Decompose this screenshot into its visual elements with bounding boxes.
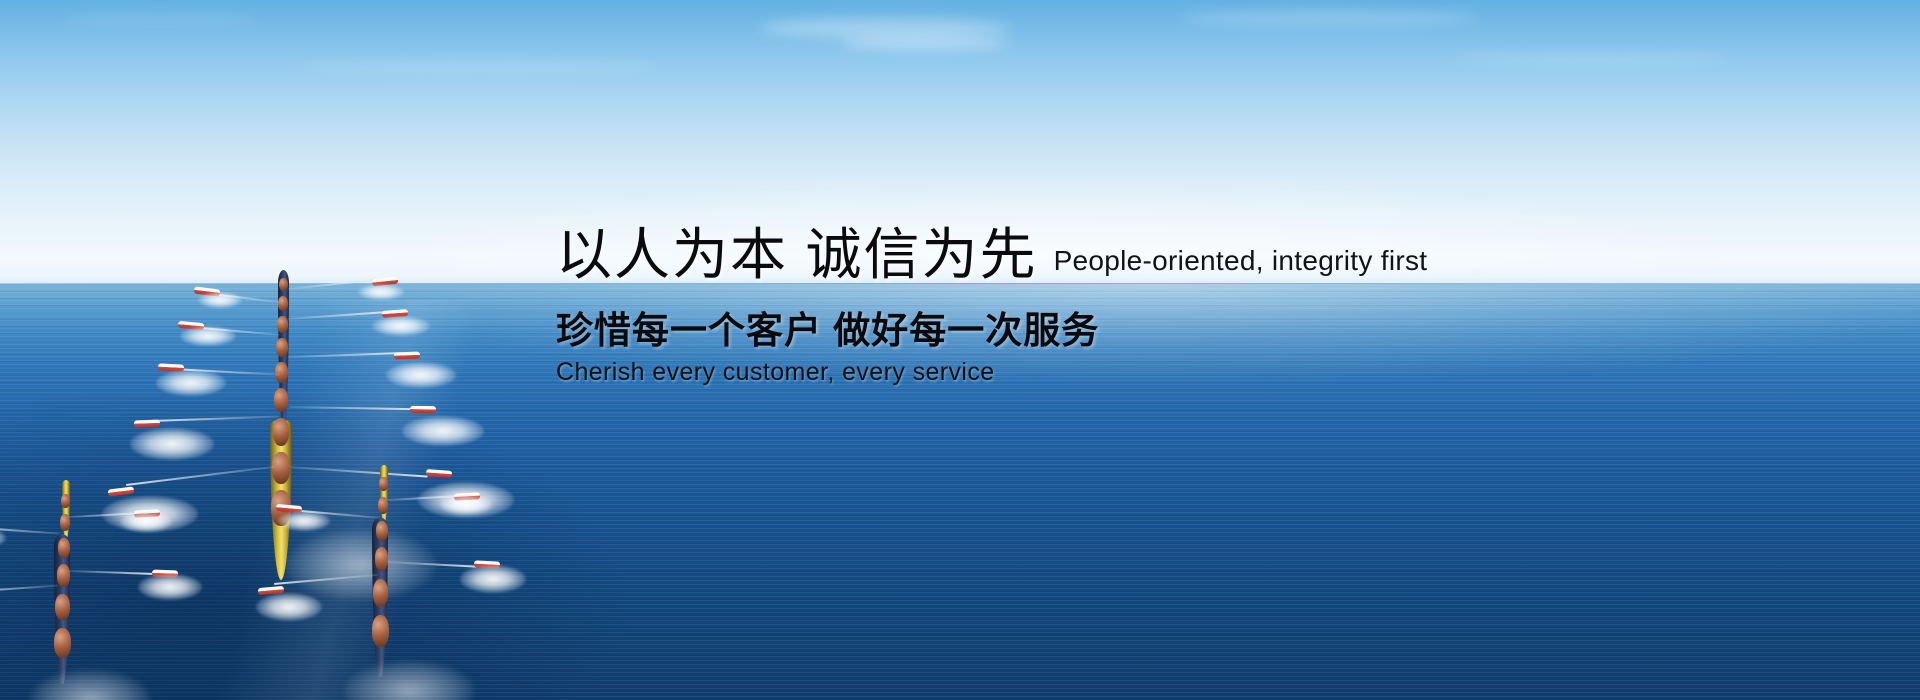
water-splash: [180, 326, 236, 346]
oar-blade: [394, 352, 420, 360]
oar: [288, 352, 398, 358]
rower: [57, 564, 70, 587]
water-splash: [358, 284, 404, 300]
oar: [0, 585, 58, 594]
rower: [373, 579, 388, 607]
water-splash: [256, 593, 322, 621]
rower: [55, 594, 70, 620]
oar-blade: [134, 420, 160, 428]
hero-banner: 以人为本 诚信为先 People-oriented, integrity fir…: [0, 0, 1920, 700]
oar: [0, 526, 60, 535]
oar: [289, 406, 413, 410]
rower: [54, 628, 71, 658]
rower: [278, 296, 288, 311]
boat-hull: [380, 465, 388, 523]
rower: [379, 477, 388, 491]
cloud-wisp: [840, 36, 1010, 50]
rower: [276, 338, 288, 357]
water-splash: [402, 416, 484, 446]
water-splash: [198, 292, 242, 308]
oar: [126, 466, 275, 486]
water-splash: [0, 528, 6, 548]
rower: [58, 538, 70, 558]
water-splash: [440, 495, 492, 515]
rower: [375, 547, 388, 571]
rower: [273, 418, 289, 446]
cloud-wisp: [1450, 52, 1730, 64]
subheadline-english: Cherish every customer, every service: [556, 358, 1876, 387]
cloud-wisp: [300, 60, 660, 74]
cloud-wisp: [1180, 10, 1480, 26]
headline-chinese: 以人为本 诚信为先: [556, 225, 1038, 284]
headline-english: People-oriented, integrity first: [1054, 245, 1428, 284]
rowing-boat-left: [10, 480, 120, 700]
subheadline-chinese: 珍惜每一个客户 做好每一次服务: [556, 300, 1876, 354]
rower: [277, 316, 288, 333]
oar: [69, 570, 155, 575]
water-splash: [156, 370, 226, 396]
slogan-block: 以人为本 诚信为先 People-oriented, integrity fir…: [556, 225, 1876, 387]
headline-row: 以人为本 诚信为先 People-oriented, integrity fir…: [556, 225, 1876, 284]
rowing-boat-right: [330, 465, 450, 700]
rower: [279, 278, 288, 291]
cloud-wisp: [760, 18, 1010, 38]
oar-blade: [410, 406, 436, 413]
rower: [272, 452, 290, 484]
water-splash: [120, 512, 172, 532]
rower: [61, 494, 70, 508]
rower: [376, 521, 388, 541]
water-splash: [130, 428, 214, 460]
oar: [288, 311, 386, 320]
rower: [372, 615, 389, 647]
water-splash: [138, 574, 202, 600]
oar: [150, 416, 278, 422]
water-splash: [278, 511, 330, 531]
boat-hull: [62, 480, 70, 540]
water-splash: [460, 565, 526, 593]
boat-foam-trail: [30, 670, 150, 700]
oar: [387, 561, 477, 568]
water-splash: [372, 316, 430, 336]
water-splash: [386, 362, 456, 388]
rower: [274, 388, 288, 412]
cloud-wisp: [60, 14, 260, 26]
boat-foam-trail: [344, 661, 474, 700]
